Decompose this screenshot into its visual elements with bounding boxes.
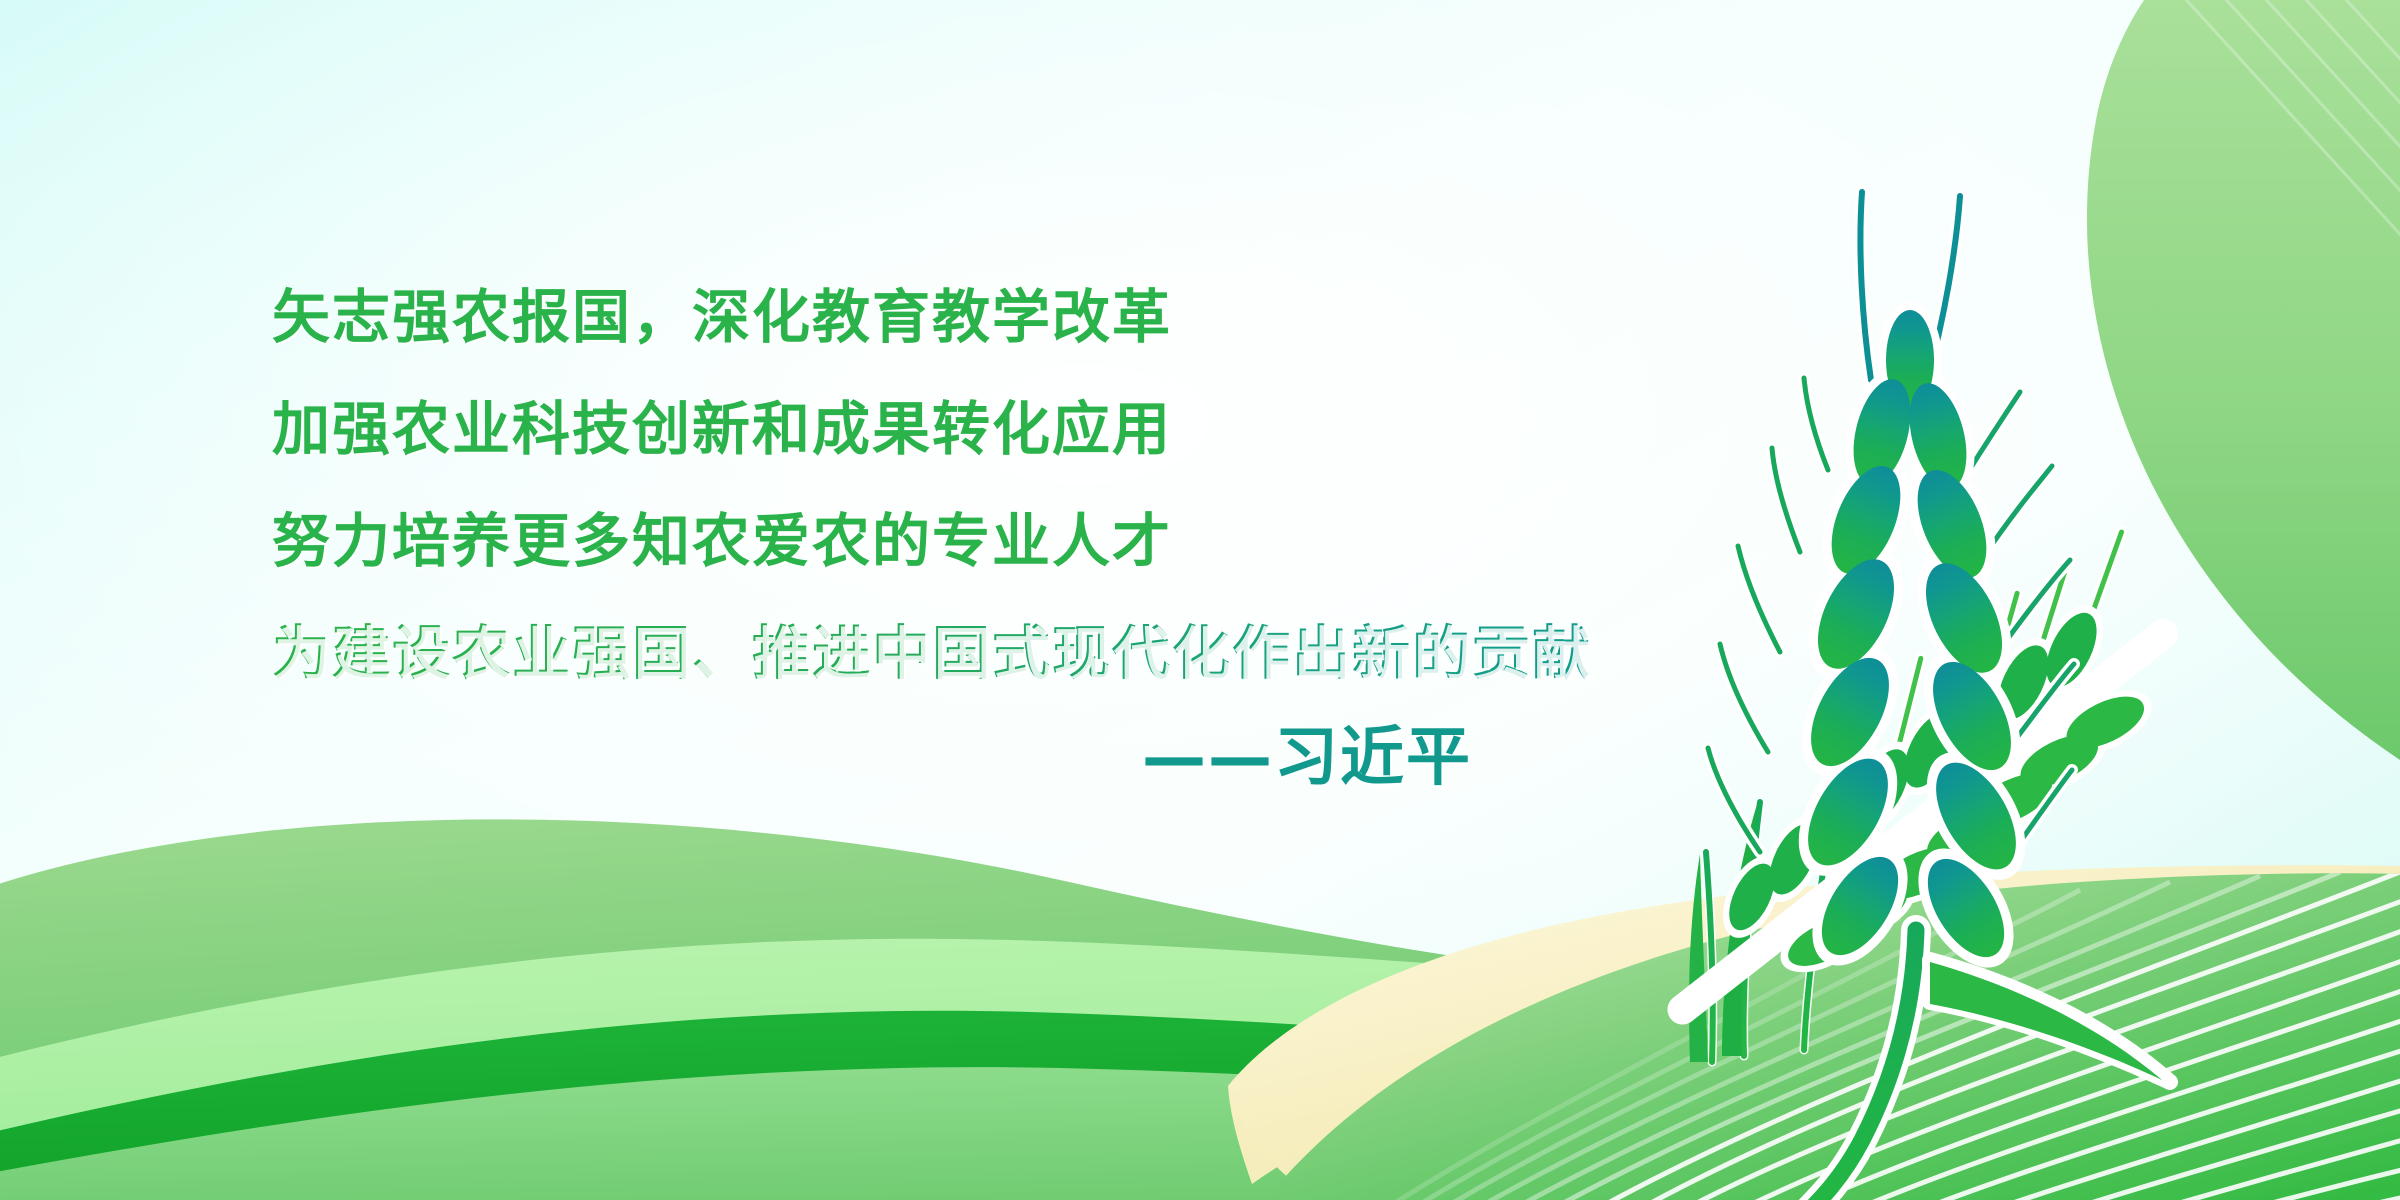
quote-line-2: 加强农业科技创新和成果转化应用 [272, 374, 1732, 486]
attribution-block: ——习近平 [272, 718, 1472, 798]
quote-line-1: 矢志强农报国，深化教育教学改革 [272, 262, 1732, 374]
quote-line-4: 为建设农业强国、推进中国式现代化作出新的贡献 [272, 598, 1732, 710]
quote-text-block: 矢志强农报国，深化教育教学改革 加强农业科技创新和成果转化应用 努力培养更多知农… [272, 262, 1732, 710]
poster-canvas: 矢志强农报国，深化教育教学改革 加强农业科技创新和成果转化应用 努力培养更多知农… [0, 0, 2400, 1200]
attribution-text: ——习近平 [1142, 721, 1472, 795]
quote-line-3: 努力培养更多知农爱农的专业人才 [272, 486, 1732, 598]
